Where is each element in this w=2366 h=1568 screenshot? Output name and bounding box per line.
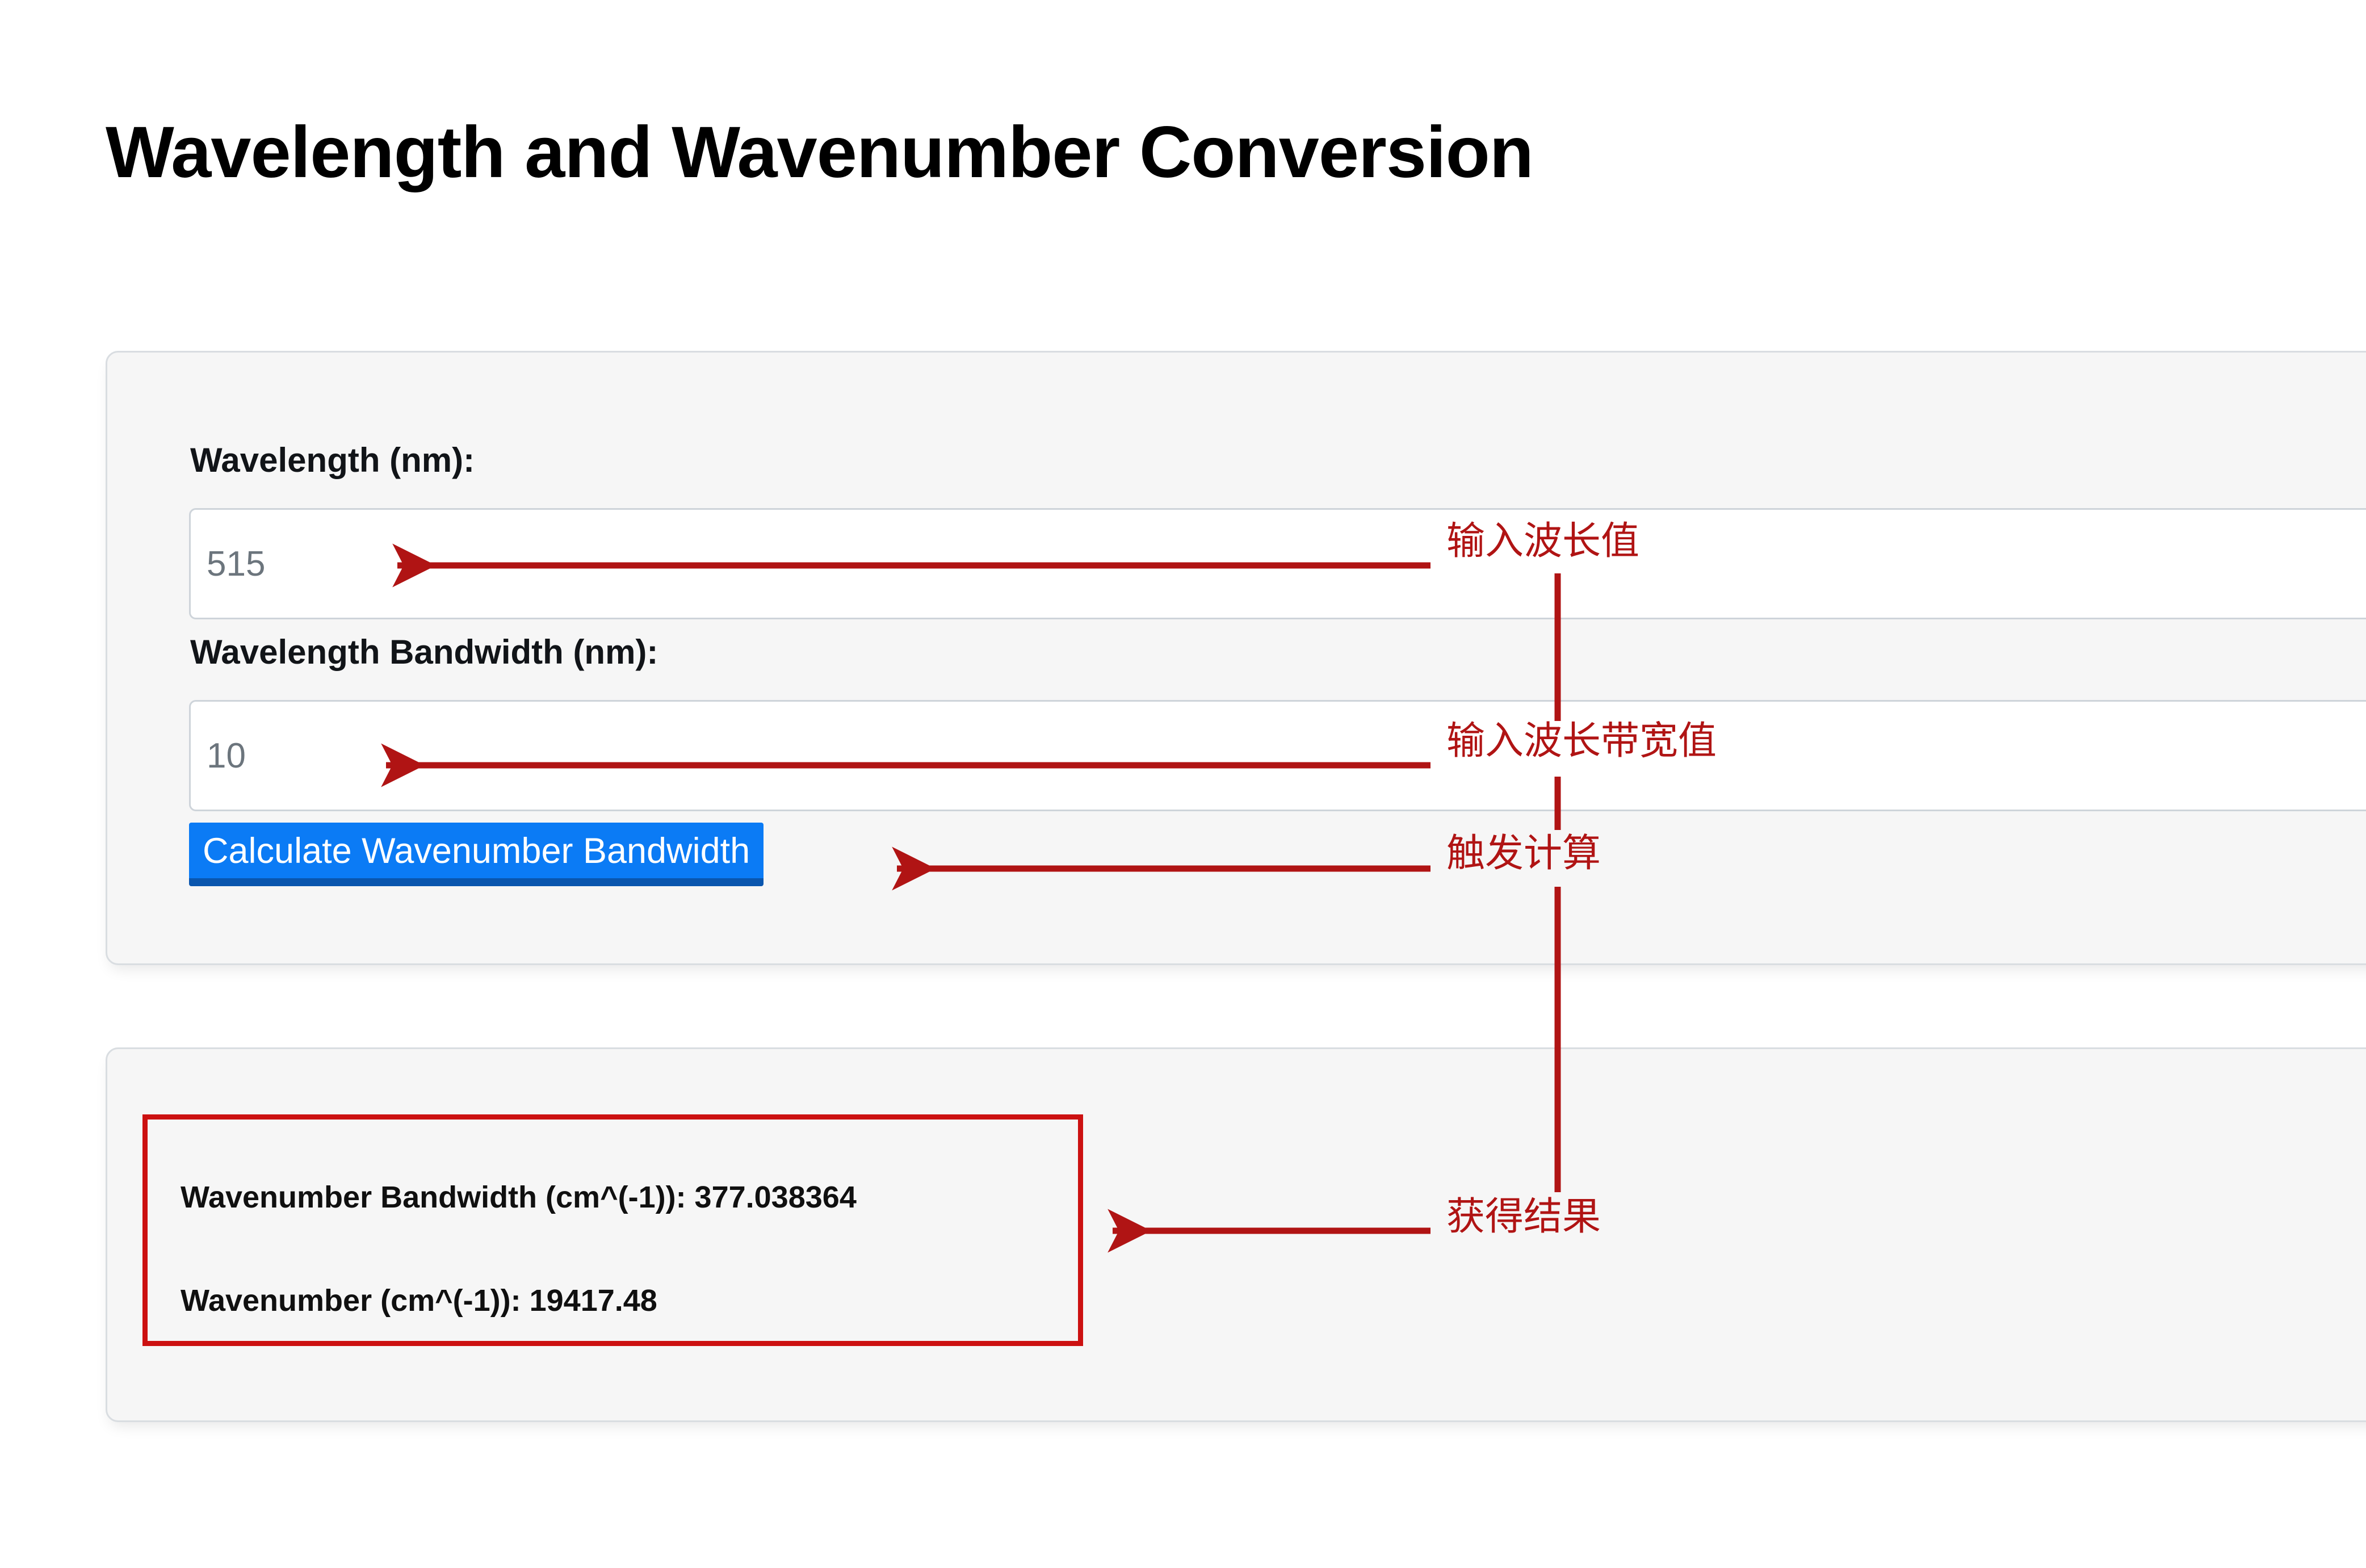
results-card: Wavenumber Bandwidth (cm^(-1)): 377.0383… xyxy=(106,1047,2366,1422)
annotation-label-input-wavelength: 输入波长值 xyxy=(1446,522,1639,561)
annotation-label-input-bandwidth: 输入波长带宽值 xyxy=(1446,722,1717,761)
conversion-form-card: Wavelength (nm): Wavelength Bandwidth (n… xyxy=(106,351,2366,965)
annotation-label-get-result: 获得结果 xyxy=(1446,1198,1601,1236)
wavenumber-bandwidth-result: Wavenumber Bandwidth (cm^(-1)): 377.0383… xyxy=(181,1182,857,1213)
wavenumber-result: Wavenumber (cm^(-1)): 19417.48 xyxy=(181,1285,657,1316)
result-highlight-box: Wavenumber Bandwidth (cm^(-1)): 377.0383… xyxy=(142,1114,1083,1346)
page-title: Wavelength and Wavenumber Conversion xyxy=(106,116,1533,189)
calculate-wavenumber-bandwidth-button[interactable]: Calculate Wavenumber Bandwidth xyxy=(189,823,764,886)
wavelength-bandwidth-input[interactable] xyxy=(189,700,2366,811)
wavelength-label: Wavelength (nm): xyxy=(190,443,475,477)
annotation-label-trigger-calculation: 触发计算 xyxy=(1446,835,1601,873)
wavelength-bandwidth-label: Wavelength Bandwidth (nm): xyxy=(190,635,658,669)
wavelength-input[interactable] xyxy=(189,508,2366,619)
